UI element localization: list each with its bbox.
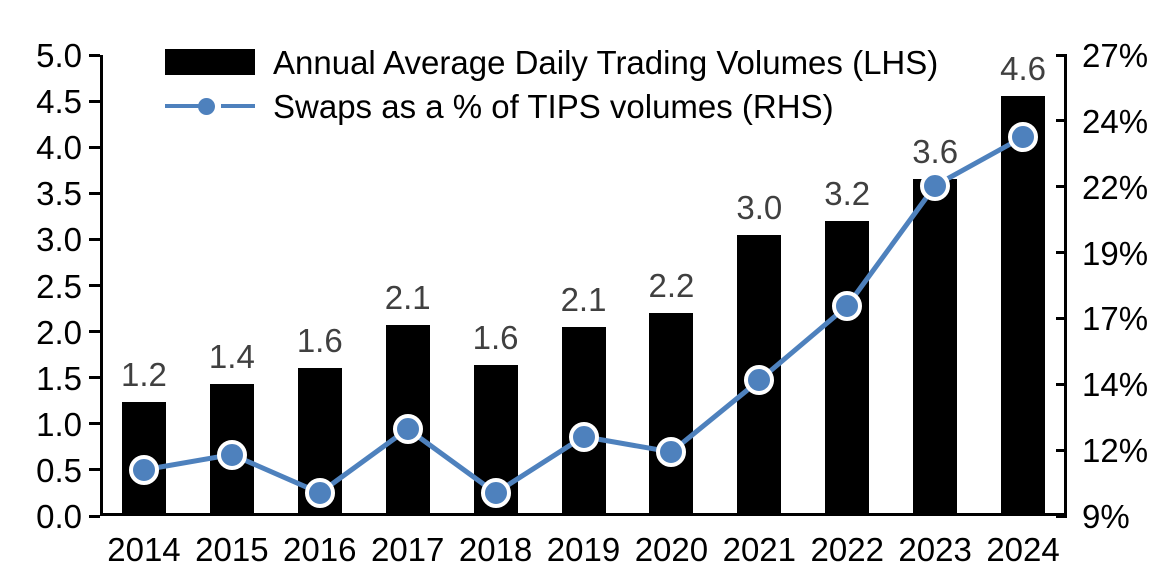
legend-label-bars: Annual Average Daily Trading Volumes (LH… [273, 46, 938, 79]
bar-data-label: 1.6 [473, 321, 519, 354]
bar-data-label: 2.2 [648, 269, 694, 302]
line-marker[interactable] [920, 171, 950, 201]
left-axis-tick [89, 422, 100, 425]
x-axis-label: 2014 [107, 533, 180, 566]
x-axis-label: 2017 [371, 533, 444, 566]
line-marker[interactable] [744, 365, 774, 395]
left-axis-tick-label: 3.5 [36, 177, 82, 210]
line-marker[interactable] [1008, 122, 1038, 152]
x-axis-label: 2024 [986, 533, 1059, 566]
left-axis-tick-label: 0.5 [36, 454, 82, 487]
right-axis-tick-label: 12% [1082, 434, 1148, 467]
line-marker[interactable] [832, 291, 862, 321]
left-axis-tick [89, 376, 100, 379]
x-axis-label: 2015 [195, 533, 268, 566]
left-axis-tick [89, 146, 100, 149]
left-axis-tick-label: 1.0 [36, 408, 82, 441]
right-axis-tick-label: 9% [1082, 500, 1130, 533]
left-axis-tick [89, 330, 100, 333]
left-axis-tick-label: 3.0 [36, 223, 82, 256]
right-axis-tick-label: 19% [1082, 237, 1148, 270]
x-axis-label: 2018 [459, 533, 532, 566]
bar-data-label: 4.6 [1000, 52, 1046, 85]
bar-data-label: 3.2 [824, 177, 870, 210]
left-axis-tick [89, 192, 100, 195]
left-axis-tick [89, 284, 100, 287]
right-axis-tick-label: 27% [1082, 39, 1148, 72]
line-marker[interactable] [129, 455, 159, 485]
chart-legend: Annual Average Daily Trading Volumes (LH… [165, 40, 938, 128]
left-axis-tick-label: 2.5 [36, 270, 82, 303]
left-axis-tick [89, 515, 100, 518]
right-axis-tick-label: 22% [1082, 171, 1148, 204]
left-axis-tick-label: 4.5 [36, 85, 82, 118]
bar-data-label: 3.0 [736, 191, 782, 224]
bar-data-label: 1.4 [209, 340, 255, 373]
x-axis-label: 2023 [898, 533, 971, 566]
bar-data-label: 1.2 [121, 358, 167, 391]
line-marker[interactable] [569, 422, 599, 452]
legend-item-bars[interactable]: Annual Average Daily Trading Volumes (LH… [165, 40, 938, 84]
left-axis-tick [89, 238, 100, 241]
left-axis-tick-label: 4.0 [36, 131, 82, 164]
left-axis-tick [89, 468, 100, 471]
left-axis-tick [89, 54, 100, 57]
left-axis-tick-label: 5.0 [36, 39, 82, 72]
right-axis-tick-label: 17% [1082, 302, 1148, 335]
x-axis-label: 2021 [723, 533, 796, 566]
x-axis-label: 2022 [811, 533, 884, 566]
line-marker[interactable] [656, 437, 686, 467]
bar-data-label: 1.6 [297, 324, 343, 357]
bar-data-label: 2.1 [561, 283, 607, 316]
chart-canvas: 0.00.51.01.52.02.53.03.54.04.55.0 9%12%1… [0, 0, 1152, 584]
left-axis-tick [89, 100, 100, 103]
line-marker[interactable] [217, 440, 247, 470]
right-axis-tick-label: 24% [1082, 105, 1148, 138]
x-axis-label: 2019 [547, 533, 620, 566]
line-marker[interactable] [305, 478, 335, 508]
bar-swatch-icon [165, 49, 255, 75]
line-marker[interactable] [481, 478, 511, 508]
legend-item-line[interactable]: Swaps as a % of TIPS volumes (RHS) [165, 84, 938, 128]
line-marker-swatch-icon [165, 93, 255, 119]
bar-data-label: 2.1 [385, 281, 431, 314]
right-axis-tick-label: 14% [1082, 368, 1148, 401]
legend-label-line: Swaps as a % of TIPS volumes (RHS) [273, 90, 834, 123]
x-axis-label: 2020 [635, 533, 708, 566]
x-axis-label: 2016 [283, 533, 356, 566]
line-marker[interactable] [393, 414, 423, 444]
left-axis-tick-label: 2.0 [36, 316, 82, 349]
left-axis-tick-label: 0.0 [36, 500, 82, 533]
bar-data-label: 3.6 [912, 135, 958, 168]
left-axis-tick-label: 1.5 [36, 362, 82, 395]
